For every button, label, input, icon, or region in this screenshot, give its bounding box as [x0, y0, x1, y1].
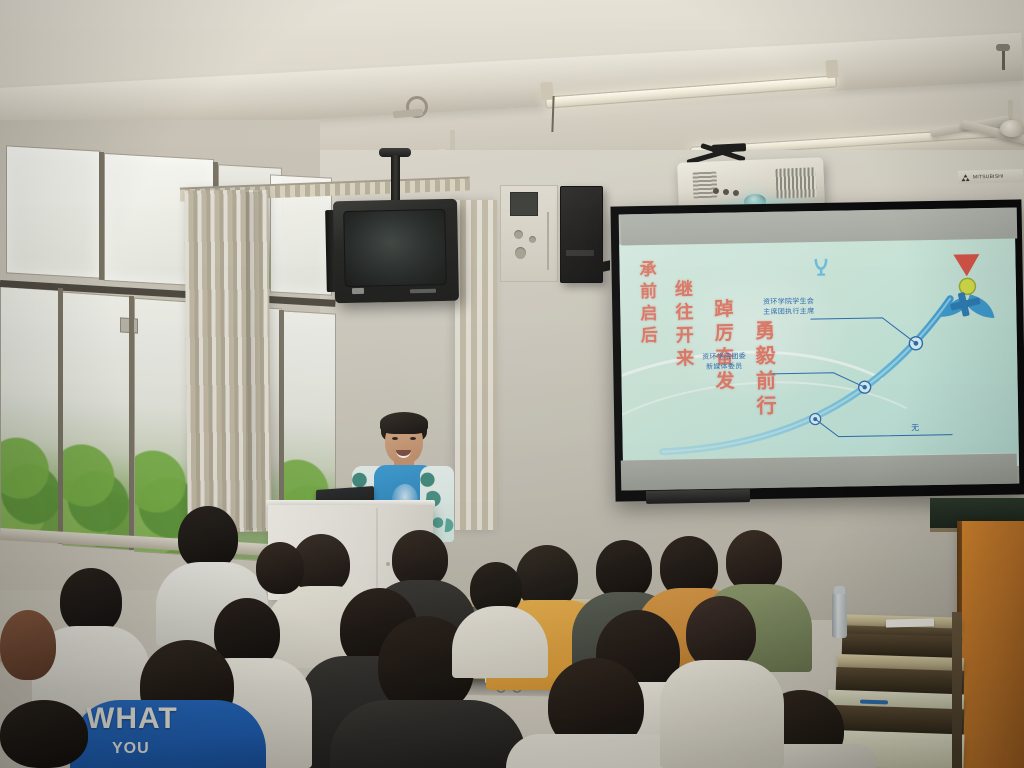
- slide-milestone-middle-line2: 新媒体委员: [677, 361, 771, 372]
- paper-sheet-right: [886, 618, 934, 627]
- podium-panel-seam: [376, 508, 378, 596]
- presenter-eye-right: [410, 437, 416, 440]
- slide-milestone-bottom: 无: [900, 423, 930, 433]
- audience-head: [60, 568, 122, 634]
- audience-head: [0, 610, 56, 680]
- wall-cable: [547, 212, 549, 270]
- audience-head: [178, 506, 238, 570]
- tube-light-1-cap-right: [825, 60, 838, 79]
- presenter-hair-top: [380, 412, 428, 434]
- curtain-secondary: [455, 200, 497, 530]
- window-mullion-vertical-upper: [99, 152, 104, 280]
- audience-shirt-text-line1: WHAT: [86, 702, 190, 736]
- mitsubishi-logo-icon: [961, 173, 970, 181]
- slide-milestone-top-line2: 主席团执行主席: [716, 307, 814, 318]
- projector-vent-left: [693, 172, 718, 199]
- window-transom-1: [6, 145, 100, 278]
- fan-hub-right: [1000, 120, 1024, 137]
- wall-socket[interactable]: [515, 247, 526, 259]
- audience-head-front: [0, 700, 88, 768]
- water-bottle: [832, 592, 847, 638]
- audience-shoulders: [452, 606, 548, 678]
- water-bottle-cap: [834, 586, 845, 594]
- wall-panel-display: [510, 192, 538, 216]
- projector-button[interactable]: [733, 190, 739, 196]
- audience-head: [726, 530, 782, 592]
- wooden-door-panel: [962, 521, 1024, 768]
- student-union-emblem-icon: [812, 257, 829, 277]
- tv-mount-pole: [391, 155, 400, 203]
- curtain-fold-shadow: [246, 192, 264, 530]
- mitsubishi-brand-text: MITSUBISHI: [973, 173, 1004, 180]
- classroom-photo: 承前启后 继往开来 踔厉奋发 勇毅前行: [0, 0, 1024, 768]
- ceiling-hook-right: [996, 44, 1010, 51]
- rocket-icon: [935, 244, 1010, 331]
- podium-fastener: [386, 562, 390, 566]
- mitsubishi-brand-plate: MITSUBISHI: [958, 169, 1023, 184]
- presenter-eye-left: [392, 437, 398, 440]
- slide-milestone-top: 资环学院学生会 主席团执行主席: [716, 297, 814, 318]
- audience-head: [686, 596, 756, 670]
- audience-head: [596, 540, 652, 600]
- tv-badge: [352, 288, 364, 294]
- projector-button[interactable]: [723, 189, 729, 195]
- presentation-slide: 承前启后 继往开来 踔厉奋发 勇毅前行: [619, 238, 1019, 460]
- desk-leg-right: [952, 612, 962, 768]
- audience-shoulders-front: [330, 700, 526, 768]
- speaker-brand-label: [566, 250, 594, 256]
- window-mullion-vertical: [129, 296, 134, 550]
- projection-screen: 承前启后 继往开来 踔厉奋发 勇毅前行: [619, 208, 1020, 491]
- projection-screen-roller: [646, 489, 750, 504]
- window-mullion-vertical: [58, 288, 63, 544]
- ceiling-wire-right: [1002, 48, 1005, 70]
- window-pane-1: [0, 286, 60, 542]
- projector-button[interactable]: [713, 188, 719, 194]
- audience-shirt-text-line2: YOU: [112, 740, 176, 758]
- slide-milestone-bottom-line1: 无: [900, 423, 930, 433]
- audience-head: [256, 542, 304, 594]
- wall-socket[interactable]: [529, 236, 536, 243]
- projector-vent-right: [775, 167, 816, 199]
- tv-brand-label: [410, 289, 436, 294]
- audience-shoulders: [660, 660, 784, 768]
- tv-screen: [343, 209, 447, 287]
- wall-socket[interactable]: [514, 230, 523, 239]
- slide-milestone-middle: 资环学院团委 新媒体委员: [677, 352, 771, 373]
